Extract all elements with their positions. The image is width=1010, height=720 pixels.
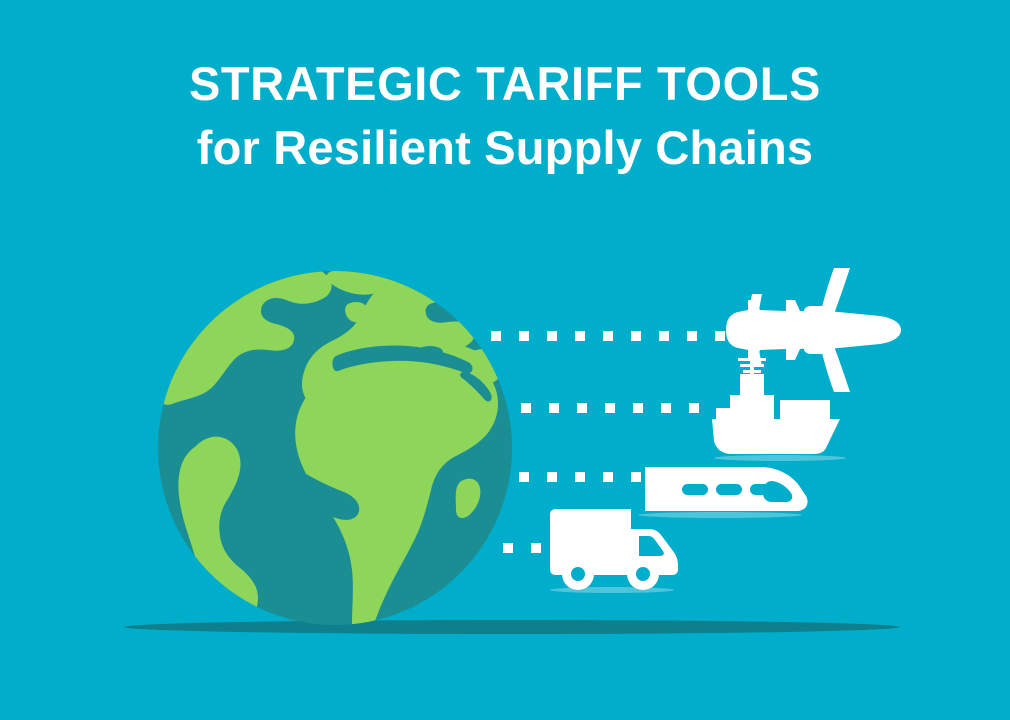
cargo-ship-icon <box>712 355 846 461</box>
globe-graphic <box>158 264 512 626</box>
ocean-black-sea <box>417 346 443 358</box>
poster-title-line-2: for Resilient Supply Chains <box>0 116 1010 180</box>
poster-title-block: STRATEGIC TARIFF TOOLS for Resilient Sup… <box>0 52 1010 180</box>
road-route-dashes <box>503 543 541 553</box>
poster-canvas: STRATEGIC TARIFF TOOLS for Resilient Sup… <box>0 0 1010 720</box>
delivery-truck-icon <box>550 509 678 593</box>
rail-route-dashes <box>519 472 641 482</box>
sea-route-dashes <box>521 403 699 413</box>
high-speed-train-icon <box>638 467 808 518</box>
ground-shadow <box>124 620 900 634</box>
poster-title-line-1: STRATEGIC TARIFF TOOLS <box>0 52 1010 116</box>
